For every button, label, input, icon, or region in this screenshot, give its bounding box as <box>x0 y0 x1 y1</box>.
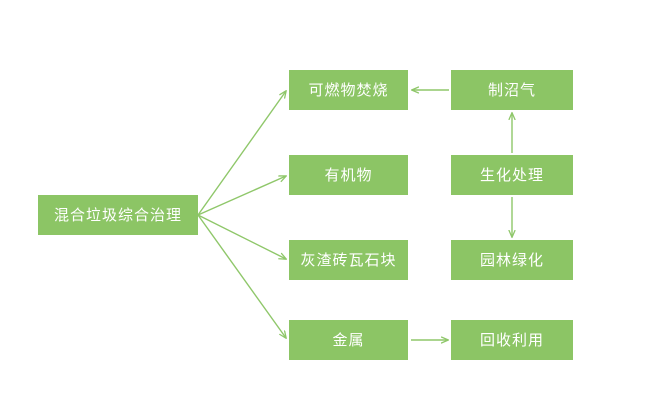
node-label-biogas: 制沼气 <box>488 83 536 98</box>
node-label-organic: 有机物 <box>324 168 372 183</box>
diagram-canvas: 混合垃圾综合治理可燃物焚烧有机物灰渣砖瓦石块金属制沼气生化处理园林绿化回收利用 <box>0 0 648 416</box>
arrow-root-to-ash-brick <box>198 215 286 259</box>
arrow-root-to-organic <box>198 176 286 215</box>
arrow-root-to-combustible <box>198 91 286 215</box>
node-label-ash-brick: 灰渣砖瓦石块 <box>300 253 396 268</box>
node-recycle[interactable]: 回收利用 <box>451 320 573 360</box>
node-root[interactable]: 混合垃圾综合治理 <box>38 195 198 235</box>
node-combustible[interactable]: 可燃物焚烧 <box>289 70 408 110</box>
node-label-root: 混合垃圾综合治理 <box>54 208 182 223</box>
node-biochem[interactable]: 生化处理 <box>451 155 573 195</box>
node-biogas[interactable]: 制沼气 <box>451 70 573 110</box>
node-label-biochem: 生化处理 <box>480 168 544 183</box>
node-label-landscaping: 园林绿化 <box>480 253 544 268</box>
node-label-recycle: 回收利用 <box>480 333 544 348</box>
arrow-root-to-metal <box>198 215 286 338</box>
node-metal[interactable]: 金属 <box>289 320 408 360</box>
node-landscaping[interactable]: 园林绿化 <box>451 240 573 280</box>
node-ash-brick[interactable]: 灰渣砖瓦石块 <box>289 240 408 280</box>
node-label-metal: 金属 <box>332 333 364 348</box>
node-organic[interactable]: 有机物 <box>289 155 408 195</box>
node-label-combustible: 可燃物焚烧 <box>308 83 388 98</box>
